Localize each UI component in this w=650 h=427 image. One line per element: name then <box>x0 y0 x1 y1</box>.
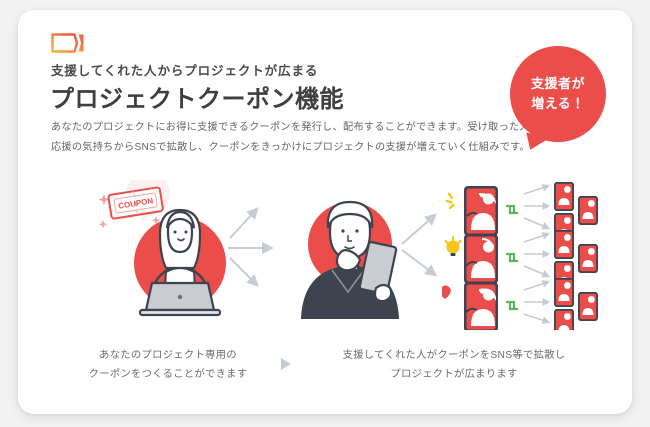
caption-left-line-1: あなたのプロジェクト専用の <box>58 346 278 365</box>
illustration-band: COUPON <box>18 176 632 331</box>
triangle-right-icon <box>281 358 291 370</box>
heart-icon <box>442 286 451 300</box>
caption-left-line-2: クーポンをつくることができます <box>58 365 278 384</box>
lead-line-2: 応援の気持ちからSNSで拡散し、クーポンをきっかけにプロジェクトの支援が増えてい… <box>51 138 501 158</box>
caption-right-line-2: プロジェクトが広まります <box>314 365 594 384</box>
caption-left: あなたのプロジェクト専用の クーポンをつくることができます <box>58 346 278 384</box>
status-badge: 支援者が 増える！ <box>510 46 606 142</box>
badge-line-2: 増える！ <box>531 94 585 114</box>
coupon-ticket-icon <box>51 33 85 53</box>
retweet-icon <box>507 254 517 261</box>
shout-icon <box>447 194 454 208</box>
badge-text: 支援者が 増える！ <box>510 46 606 142</box>
scene-woman-with-laptop: COUPON <box>96 180 236 330</box>
caption-right-line-1: 支援してくれた人がクーポンをSNS等で拡散し <box>314 346 594 365</box>
scene-man-with-tablet <box>290 192 405 322</box>
lightbulb-icon <box>446 237 461 256</box>
feature-card: 支援してくれた人からプロジェクトが広まる プロジェクトクーポン機能 あなたのプロ… <box>18 10 632 414</box>
caption-right: 支援してくれた人がクーポンをSNS等で拡散し プロジェクトが広まります <box>314 346 594 384</box>
scene-phones-sharing <box>442 182 612 330</box>
lead-paragraph: あなたのプロジェクトにお得に支援できるクーポンを発行し、配布することができます。… <box>51 118 501 158</box>
lead-line-1: あなたのプロジェクトにお得に支援できるクーポンを発行し、配布することができます。… <box>51 118 501 138</box>
retweet-icon <box>507 302 517 309</box>
page-title: プロジェクトクーポン機能 <box>50 79 344 114</box>
retweet-icon <box>507 206 517 213</box>
eyebrow-text: 支援してくれた人からプロジェクトが広まる <box>51 60 318 79</box>
badge-line-1: 支援者が <box>531 74 585 94</box>
